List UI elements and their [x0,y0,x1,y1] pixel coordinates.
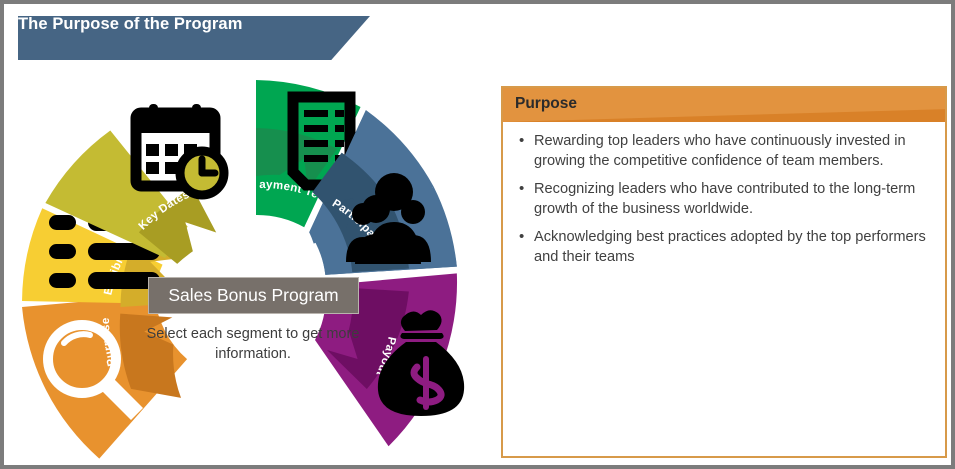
center-instruction: Select each segment to get more informat… [128,324,378,364]
purpose-bullet-list: Rewarding top leaders who have continuou… [517,132,931,267]
info-panel-title: Purpose [515,95,577,113]
info-panel: Purpose Rewarding top leaders who have c… [501,86,947,458]
segment-wheel: Purpose Eligibility [12,62,492,468]
list-item: Acknowledging best practices adopted by … [517,228,931,267]
page-title: The Purpose of the Program [18,15,242,34]
segment-purpose[interactable]: Purpose [22,295,187,458]
center-title-box: Sales Bonus Program [148,277,359,314]
info-panel-body: Rewarding top leaders who have continuou… [503,122,945,267]
slide-canvas: The Purpose of the Program [4,4,951,465]
slide-screen: The Purpose of the Program [0,0,955,469]
wheel-svg: Purpose Eligibility [12,62,492,468]
list-item: Recognizing leaders who have contributed… [517,180,931,219]
calendar-clock-icon [136,104,228,199]
center-title: Sales Bonus Program [168,285,338,306]
info-panel-header: Purpose [503,88,945,122]
list-item: Rewarding top leaders who have continuou… [517,132,931,171]
